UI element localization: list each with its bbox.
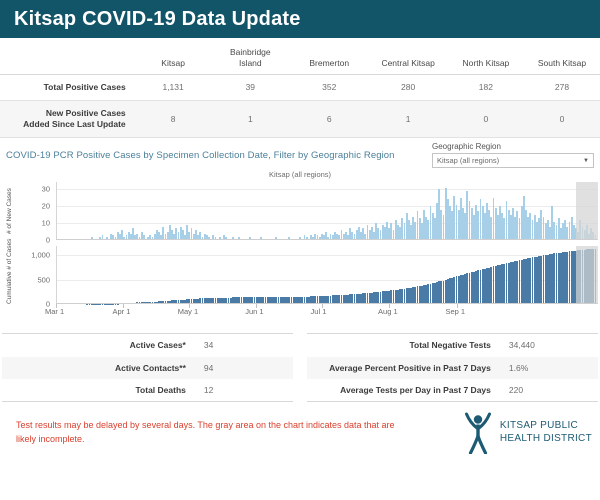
- table-row: New Positive CasesAdded Since Last Updat…: [0, 101, 600, 138]
- stats-left-column: Active Cases* 34 Active Contacts** 94 To…: [2, 333, 293, 402]
- y-axis-ticks-daily: 0102030: [22, 182, 50, 240]
- x-tick-label: Mar 1: [45, 307, 64, 316]
- app-header: Kitsap COVID-19 Data Update: [0, 0, 600, 38]
- stat-label-total-negative-tests: Total Negative Tests: [307, 334, 505, 357]
- stats-right-column: Total Negative Tests 34,440 Average Perc…: [307, 333, 598, 402]
- column-header-north-kitsap: North Kitsap: [448, 42, 524, 75]
- column-header-central-kitsap: Central Kitsap: [368, 42, 447, 75]
- column-header-south-kitsap: South Kitsap: [524, 42, 600, 75]
- daily-bars: [56, 182, 598, 240]
- stats-table-right: Total Negative Tests 34,440 Average Perc…: [307, 333, 598, 402]
- chart-subtitle: Kitsap (all regions): [0, 170, 600, 179]
- cell-new-south: 0: [524, 101, 600, 138]
- cell-total-bremerton: 352: [290, 75, 368, 101]
- footer: Test results may be delayed by several d…: [0, 402, 600, 454]
- filter-label: Geographic Region: [432, 142, 594, 151]
- list-item: Total Negative Tests 34,440: [307, 334, 598, 357]
- x-tick-label: Apr 1: [112, 307, 130, 316]
- stats-section: Active Cases* 34 Active Contacts** 94 To…: [0, 333, 600, 402]
- daily-new-cases-chart: [56, 182, 598, 240]
- logo-line-1: KITSAP PUBLIC: [500, 420, 592, 433]
- person-arms-raised-icon: [461, 412, 495, 454]
- y-tick-label: 500: [37, 275, 50, 284]
- x-tick-label: Sep 1: [446, 307, 466, 316]
- chevron-down-icon: ▼: [583, 158, 589, 164]
- y-tick-label: 0: [46, 236, 50, 245]
- stat-value-active-cases: 34: [200, 334, 293, 357]
- stat-value-avg-percent-positive: 1.6%: [505, 357, 598, 379]
- row-label-new-positive-cases: New Positive CasesAdded Since Last Updat…: [0, 101, 136, 138]
- stat-label-active-contacts: Active Contacts**: [2, 357, 200, 379]
- stat-value-total-deaths: 12: [200, 379, 293, 402]
- table-row: Total Positive Cases 1,131 39 352 280 18…: [0, 75, 600, 101]
- organization-logo: KITSAP PUBLIC HEALTH DISTRICT: [461, 412, 592, 454]
- list-item: Active Cases* 34: [2, 334, 293, 357]
- stat-value-avg-tests-per-day: 220: [505, 379, 598, 402]
- y-tick-label: 20: [42, 202, 50, 211]
- logo-line-2: HEALTH DISTRICT: [500, 433, 592, 446]
- stat-value-active-contacts: 94: [200, 357, 293, 379]
- axis-label-new-cases: # of New Cases: [6, 182, 13, 240]
- cell-total-central: 280: [368, 75, 447, 101]
- stat-value-total-negative-tests: 34,440: [505, 334, 598, 357]
- column-header-kitsap: Kitsap: [136, 42, 211, 75]
- cell-total-north: 182: [448, 75, 524, 101]
- list-item: Average Tests per Day in Past 7 Days 220: [307, 379, 598, 402]
- cell-new-bremerton: 6: [290, 101, 368, 138]
- chart-title: COVID-19 PCR Positive Cases by Specimen …: [6, 142, 395, 161]
- x-axis: Mar 1Apr 1May 1Jun 1Jul 1Aug 1Sep 1: [56, 304, 598, 320]
- region-select[interactable]: Kitsap (all regions) ▼: [432, 153, 594, 168]
- x-tick-label: Jun 1: [245, 307, 263, 316]
- stat-label-total-deaths: Total Deaths: [2, 379, 200, 402]
- y-tick-label: 10: [42, 219, 50, 228]
- x-tick-label: Aug 1: [378, 307, 398, 316]
- x-tick-label: May 1: [178, 307, 198, 316]
- list-item: Average Percent Positive in Past 7 Days …: [307, 357, 598, 379]
- chart-header: COVID-19 PCR Positive Cases by Specimen …: [0, 142, 600, 168]
- axis-label-cumulative-cases: Cumulative # of Cases: [6, 246, 13, 304]
- page-title: Kitsap COVID-19 Data Update: [14, 8, 301, 31]
- cell-new-kitsap: 8: [136, 101, 211, 138]
- cell-total-kitsap: 1,131: [136, 75, 211, 101]
- logo-text: KITSAP PUBLIC HEALTH DISTRICT: [500, 420, 592, 445]
- chart-plot-area: Kitsap (all regions) # of New Cases Cumu…: [0, 170, 600, 322]
- cell-new-central: 1: [368, 101, 447, 138]
- stat-label-avg-percent-positive: Average Percent Positive in Past 7 Days: [307, 357, 505, 379]
- cell-total-bainbridge: 39: [211, 75, 290, 101]
- cell-new-bainbridge: 1: [211, 101, 290, 138]
- list-item: Total Deaths 12: [2, 379, 293, 402]
- incomplete-data-band: [576, 246, 598, 304]
- cumulative-bars: [56, 246, 598, 304]
- y-axis-ticks-cumulative: 05001,000: [22, 246, 50, 304]
- y-tick-label: 30: [42, 185, 50, 194]
- chart-section: COVID-19 PCR Positive Cases by Specimen …: [0, 142, 600, 330]
- region-summary-table: Kitsap BainbridgeIsland Bremerton Centra…: [0, 42, 600, 138]
- row-label-total-positive-cases: Total Positive Cases: [0, 75, 136, 101]
- column-header-bainbridge-island: BainbridgeIsland: [211, 42, 290, 75]
- stats-table-left: Active Cases* 34 Active Contacts** 94 To…: [2, 333, 293, 402]
- cell-new-north: 0: [448, 101, 524, 138]
- stat-label-avg-tests-per-day: Average Tests per Day in Past 7 Days: [307, 379, 505, 402]
- incomplete-data-band: [576, 182, 598, 240]
- geographic-region-filter: Geographic Region Kitsap (all regions) ▼: [432, 142, 594, 168]
- x-tick-label: Jul 1: [311, 307, 327, 316]
- cell-total-south: 278: [524, 75, 600, 101]
- region-select-value: Kitsap (all regions): [437, 156, 499, 165]
- y-tick-label: 1,000: [31, 251, 50, 260]
- table-corner-cell: [0, 42, 136, 75]
- table-header-row: Kitsap BainbridgeIsland Bremerton Centra…: [0, 42, 600, 75]
- cumulative-cases-chart: [56, 246, 598, 304]
- list-item: Active Contacts** 94: [2, 357, 293, 379]
- stat-label-active-cases: Active Cases*: [2, 334, 200, 357]
- axis-baseline: [56, 239, 598, 240]
- column-header-bremerton: Bremerton: [290, 42, 368, 75]
- disclaimer-note: Test results may be delayed by several d…: [16, 419, 406, 447]
